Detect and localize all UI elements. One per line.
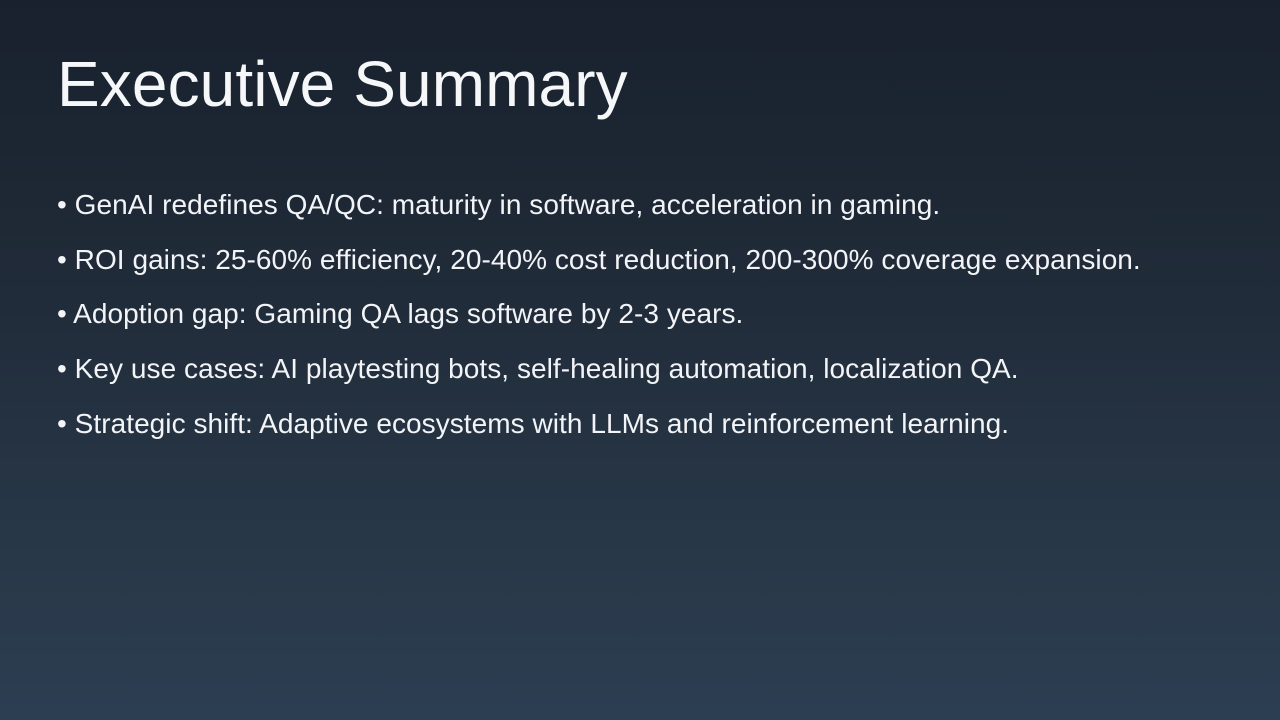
- bullet-list: • GenAI redefines QA/QC: maturity in sof…: [57, 186, 1167, 443]
- list-item: • ROI gains: 25-60% efficiency, 20-40% c…: [57, 241, 1167, 280]
- list-item: • Adoption gap: Gaming QA lags software …: [57, 295, 1167, 334]
- list-item: • Strategic shift: Adaptive ecosystems w…: [57, 405, 1167, 444]
- page-title: Executive Summary: [57, 50, 1217, 119]
- list-item: • Key use cases: AI playtesting bots, se…: [57, 350, 1167, 389]
- presentation-slide: Executive Summary • GenAI redefines QA/Q…: [0, 0, 1280, 720]
- list-item: • GenAI redefines QA/QC: maturity in sof…: [57, 186, 1167, 225]
